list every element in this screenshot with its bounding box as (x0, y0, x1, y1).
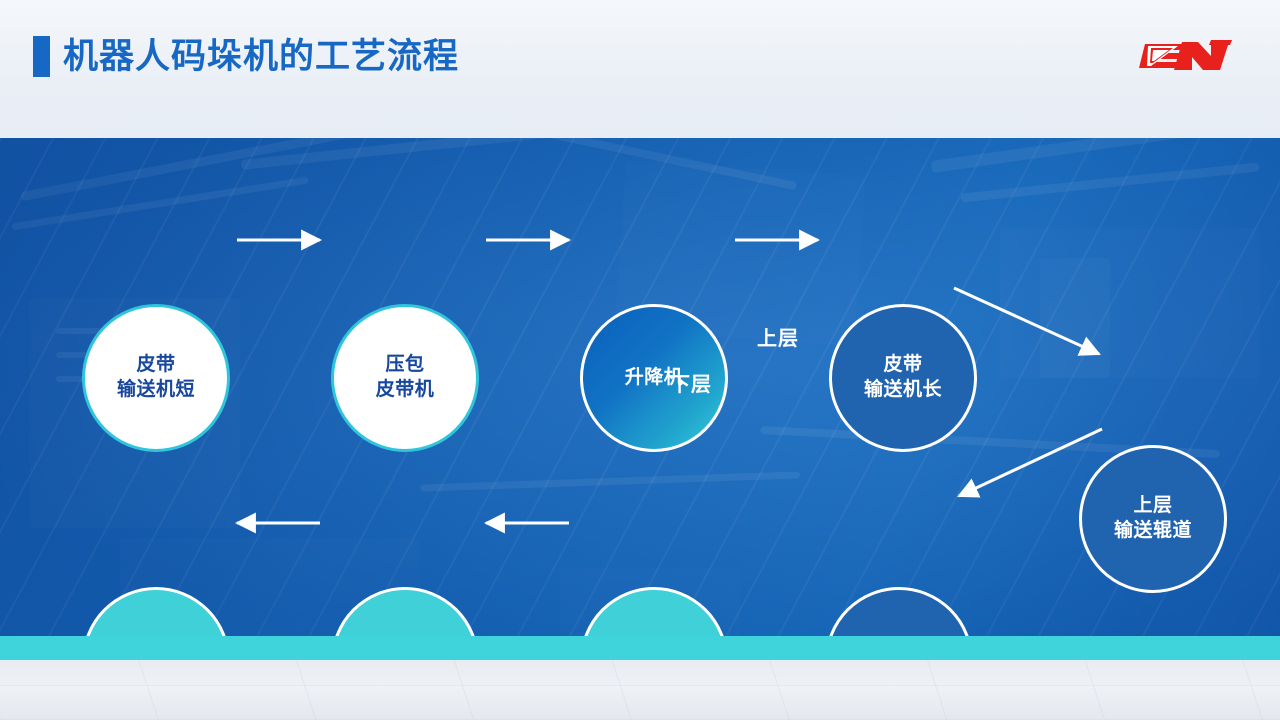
node-line: 输送机长 (864, 378, 942, 403)
page-title: 机器人码垛机的工艺流程 (33, 36, 459, 77)
flow-node-baling-belt-machine[interactable]: 压包 皮带机 (331, 304, 479, 452)
edge-label-lower-layer: 下层 (670, 368, 712, 397)
title-text: 机器人码垛机的工艺流程 (63, 39, 459, 74)
diagram-stage: 皮带 输送机短 压包 皮带机 升降机 皮带 输送机长 上层 输送辊道 上层 机器… (0, 138, 1280, 636)
node-line: 皮带 (883, 353, 922, 378)
flow-node-belt-conveyor-short[interactable]: 皮带 输送机短 (82, 304, 230, 452)
node-line: 皮带机 (376, 378, 435, 403)
flow-node-belt-conveyor-long-upper[interactable]: 皮带 输送机长 (829, 304, 977, 452)
slide-header: 机器人码垛机的工艺流程 (0, 0, 1280, 138)
slide: 机器人码垛机的工艺流程 (0, 0, 1280, 720)
flow-node-upper-roller-conveyor[interactable]: 上层 输送辊道 (1079, 445, 1227, 593)
edge-label-upper-layer: 上层 (757, 322, 799, 351)
node-line: 输送辊道 (1114, 519, 1192, 544)
title-accent-bar (33, 36, 50, 77)
slide-footer (0, 660, 1280, 720)
accent-bar-bottom (0, 636, 1280, 660)
node-line: 皮带 (136, 353, 175, 378)
zn-logo-icon (1136, 31, 1236, 81)
node-line: 输送机短 (117, 378, 195, 403)
node-line: 上层 (1133, 494, 1172, 519)
node-line: 压包 (385, 353, 424, 378)
